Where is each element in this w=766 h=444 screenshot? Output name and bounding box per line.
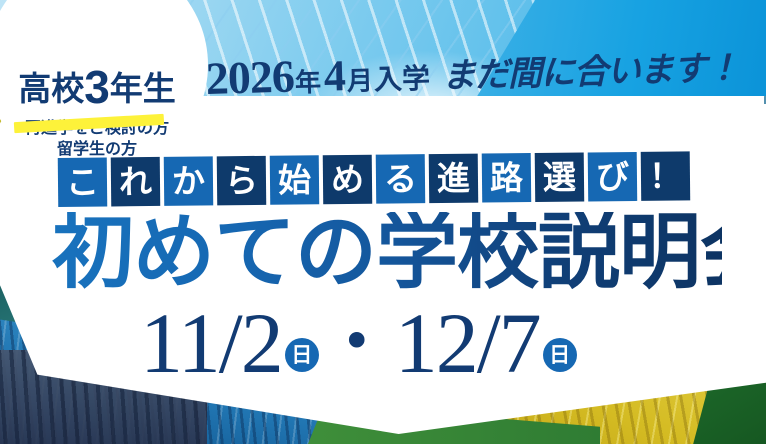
audience-badge: 高校3年生 再進学をご検討の方 留学生の方	[0, 0, 208, 176]
boxed-phrase-char: こ	[58, 157, 108, 207]
boxed-phrase-char: 進	[429, 154, 479, 204]
badge-headline: 高校3年生	[18, 64, 176, 110]
audience-badge-inner: 高校3年生 再進学をご検討の方 留学生の方	[0, 64, 208, 160]
boxed-phrase-char: 選	[535, 152, 585, 202]
weekday-badge-first: 日	[285, 338, 319, 372]
headline-year: 2026	[205, 54, 294, 102]
boxed-phrase-char: 路	[482, 153, 532, 203]
badge-headline-prefix: 高校	[18, 70, 84, 107]
headline-enrollment: 入学	[374, 65, 431, 95]
weekday-badge-second: 日	[543, 338, 577, 372]
boxed-phrase-char: び	[588, 152, 638, 202]
boxed-phrase: これから始める進路選び！	[58, 151, 690, 207]
boxed-phrase-char: 始	[270, 155, 320, 205]
event-dates: 11/2 日 ・ 12/7 日	[140, 300, 577, 386]
badge-headline-number: 3	[84, 61, 110, 113]
boxed-phrase-char: め	[323, 155, 373, 205]
event-date-second: 12/7	[395, 300, 540, 386]
badge-headline-suffix: 年生	[110, 70, 176, 107]
promotional-banner: 高校3年生 再進学をご検討の方 留学生の方 2026 年 4 月 入学 まだ間に…	[0, 0, 766, 444]
boxed-phrase-char: ら	[217, 156, 267, 206]
headline-month: 4	[323, 54, 346, 99]
page-title: 初めての学校説明会	[52, 212, 722, 294]
date-separator: ・	[325, 311, 389, 375]
boxed-phrase-char: る	[376, 154, 426, 204]
boxed-phrase-char: か	[164, 156, 214, 206]
headline-month-unit: 月	[347, 67, 374, 94]
event-date-first: 11/2	[140, 300, 282, 386]
boxed-phrase-char: ！	[641, 151, 691, 201]
headline-tagline: まだ間に合います！	[441, 51, 739, 93]
boxed-phrase-char: れ	[111, 157, 161, 207]
headline-year-unit: 年	[295, 69, 322, 96]
